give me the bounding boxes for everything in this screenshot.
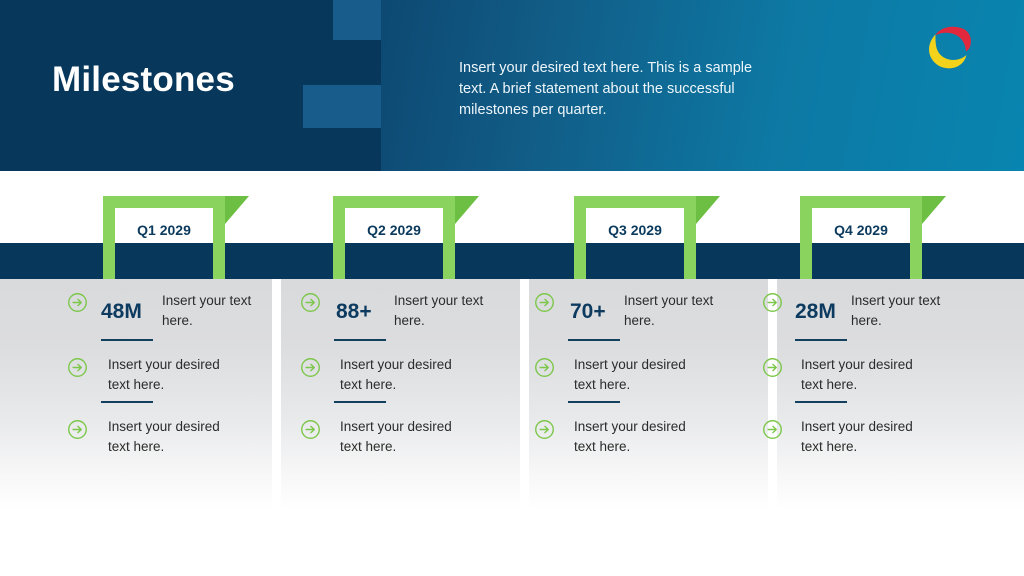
header-step-light-1 <box>333 0 381 40</box>
header-step-dark-2 <box>333 128 381 171</box>
milestone-row-text: Insert your desired text here. <box>340 417 470 456</box>
milestone-row-text: Insert your text here. <box>624 291 724 330</box>
milestone-tag-label: Q4 2029 <box>800 222 922 238</box>
milestone-row-text: Insert your text here. <box>162 291 262 330</box>
company-logo-icon <box>921 21 979 79</box>
header-intro-text: Insert your desired text here. This is a… <box>459 58 779 121</box>
milestone-tag-q4[interactable]: Q4 2029 <box>800 196 946 279</box>
ribbon-fold-icon <box>455 196 479 224</box>
milestone-stat: 88+ <box>336 300 372 324</box>
milestone-tag-q3[interactable]: Q3 2029 <box>574 196 720 279</box>
milestone-tag-q2[interactable]: Q2 2029 <box>333 196 479 279</box>
arrow-circle-right-icon <box>762 357 783 378</box>
arrow-circle-right-icon <box>534 419 555 440</box>
ribbon-fold-icon <box>922 196 946 224</box>
arrow-circle-right-icon <box>762 419 783 440</box>
row-divider <box>795 339 847 341</box>
milestone-tag-q1[interactable]: Q1 2029 <box>103 196 249 279</box>
milestone-tag-label: Q3 2029 <box>574 222 696 238</box>
milestone-tag-label: Q1 2029 <box>103 222 225 238</box>
milestone-row-text: Insert your desired text here. <box>801 355 931 394</box>
slide-canvas: Milestones Insert your desired text here… <box>0 0 1024 576</box>
arrow-circle-right-icon <box>762 292 783 313</box>
row-divider <box>334 339 386 341</box>
arrow-circle-right-icon <box>300 419 321 440</box>
row-divider <box>795 401 847 403</box>
milestone-row-text: Insert your desired text here. <box>801 417 931 456</box>
page-title: Milestones <box>52 60 235 100</box>
arrow-circle-right-icon <box>300 357 321 378</box>
arrow-circle-right-icon <box>67 292 88 313</box>
ribbon-top-bar <box>800 196 922 208</box>
milestone-tag-label: Q2 2029 <box>333 222 455 238</box>
milestone-row-text: Insert your desired text here. <box>340 355 470 394</box>
row-divider <box>101 339 153 341</box>
ribbon-top-bar <box>333 196 455 208</box>
milestone-stat: 28M <box>795 300 836 324</box>
milestone-row-text: Insert your desired text here. <box>574 355 704 394</box>
ribbon-fold-icon <box>225 196 249 224</box>
milestone-row-text: Insert your desired text here. <box>574 417 704 456</box>
milestone-row-text: Insert your text here. <box>394 291 494 330</box>
header-step-light-2 <box>303 85 381 128</box>
arrow-circle-right-icon <box>67 357 88 378</box>
row-divider <box>334 401 386 403</box>
arrow-circle-right-icon <box>534 292 555 313</box>
milestone-row-text: Insert your desired text here. <box>108 355 238 394</box>
arrow-circle-right-icon <box>534 357 555 378</box>
header-step-dark-1 <box>343 40 381 85</box>
ribbon-top-bar <box>103 196 225 208</box>
milestone-row-text: Insert your desired text here. <box>108 417 238 456</box>
arrow-circle-right-icon <box>300 292 321 313</box>
ribbon-fold-icon <box>696 196 720 224</box>
milestone-row-text: Insert your text here. <box>851 291 951 330</box>
row-divider <box>101 401 153 403</box>
milestone-stat: 48M <box>101 300 142 324</box>
ribbon-top-bar <box>574 196 696 208</box>
arrow-circle-right-icon <box>67 419 88 440</box>
milestone-stat: 70+ <box>570 300 606 324</box>
row-divider <box>568 339 620 341</box>
row-divider <box>568 401 620 403</box>
slide-header: Milestones Insert your desired text here… <box>0 0 1024 171</box>
